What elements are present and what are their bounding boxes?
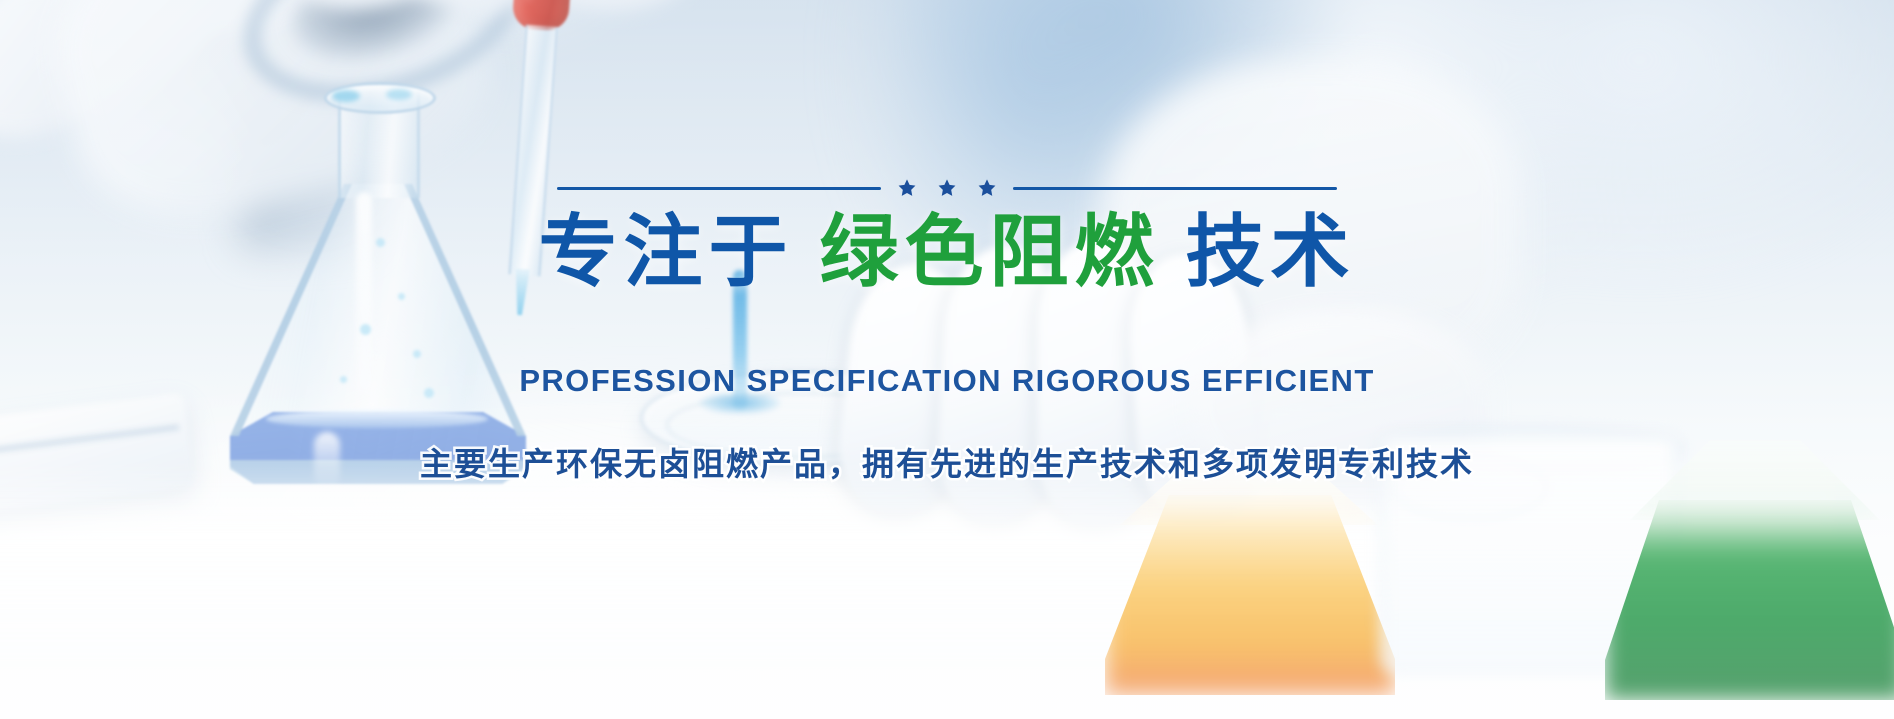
star-icon bbox=[897, 178, 917, 198]
headline-part-1: 专注于 bbox=[539, 207, 794, 296]
divider-rule-right bbox=[1013, 187, 1337, 190]
star-group bbox=[897, 178, 997, 198]
headline-part-2: 绿色阻燃 bbox=[820, 207, 1160, 296]
star-icon bbox=[977, 178, 997, 198]
tagline: 主要生产环保无卤阻燃产品，拥有先进的生产技术和多项发明专利技术 bbox=[420, 439, 1474, 485]
hero-banner: 专注于绿色阻燃技术 PROFESSION SPECIFICATION RIGOR… bbox=[0, 0, 1894, 719]
banner-text-overlay: 专注于绿色阻燃技术 PROFESSION SPECIFICATION RIGOR… bbox=[0, 0, 1894, 719]
headline-part-3: 技术 bbox=[1186, 207, 1356, 296]
headline: 专注于绿色阻燃技术 bbox=[539, 210, 1356, 294]
decorative-divider bbox=[557, 178, 1337, 198]
divider-rule-left bbox=[557, 187, 881, 190]
subtitle: PROFESSION SPECIFICATION RIGOROUS EFFICI… bbox=[519, 363, 1374, 399]
star-icon bbox=[937, 178, 957, 198]
